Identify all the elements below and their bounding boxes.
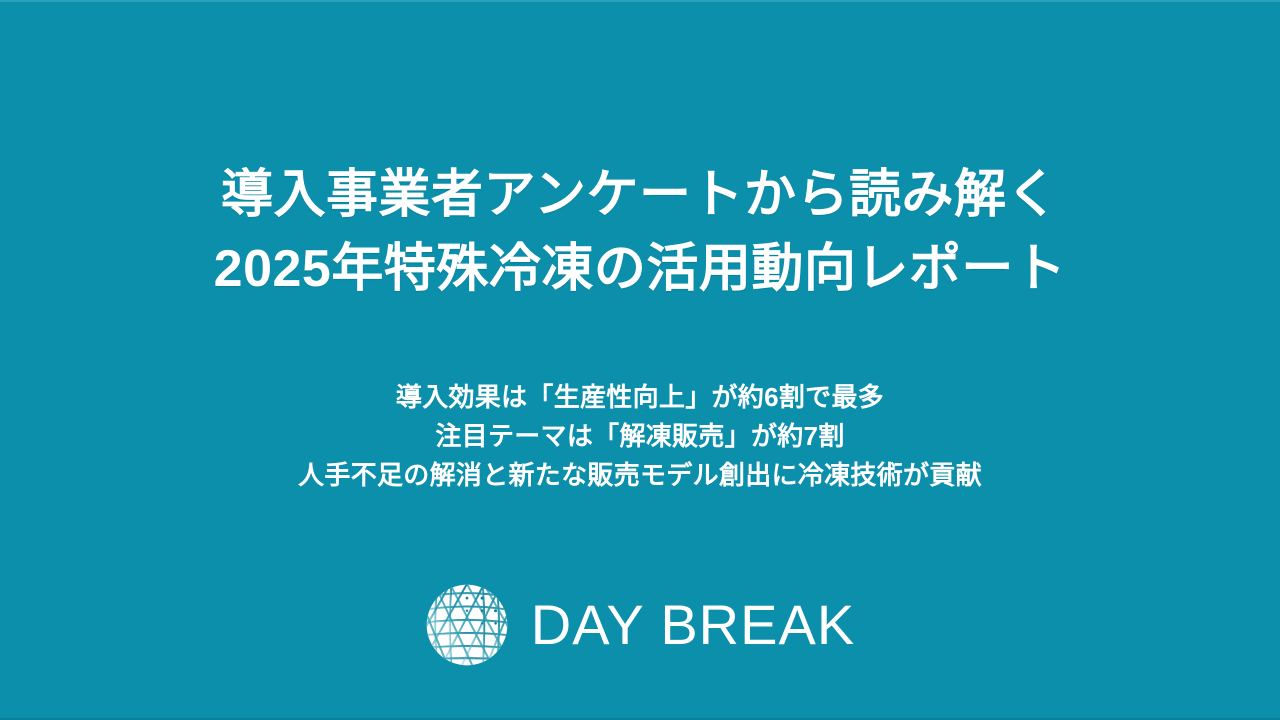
daybreak-sphere-logo-icon (425, 583, 509, 667)
slide-subtitle: 導入効果は「生産性向上」が約6割で最多 注目テーマは「解凍販売」が約7割 人手不… (0, 378, 1280, 495)
title-line-1: 導入事業者アンケートから読み解く (0, 158, 1280, 232)
slide-title: 導入事業者アンケートから読み解く 2025年特殊冷凍の活用動向レポート (0, 158, 1280, 306)
title-slide: 導入事業者アンケートから読み解く 2025年特殊冷凍の活用動向レポート 導入効果… (0, 0, 1280, 720)
subtitle-line-3: 人手不足の解消と新たな販売モデル創出に冷凍技術が貢献 (0, 456, 1280, 495)
title-line-2: 2025年特殊冷凍の活用動向レポート (0, 232, 1280, 306)
subtitle-line-1: 導入効果は「生産性向上」が約6割で最多 (0, 378, 1280, 417)
logo-wordmark: DAY BREAK (531, 595, 855, 655)
brand-logo: DAY BREAK (0, 583, 1280, 667)
subtitle-line-2: 注目テーマは「解凍販売」が約7割 (0, 417, 1280, 456)
